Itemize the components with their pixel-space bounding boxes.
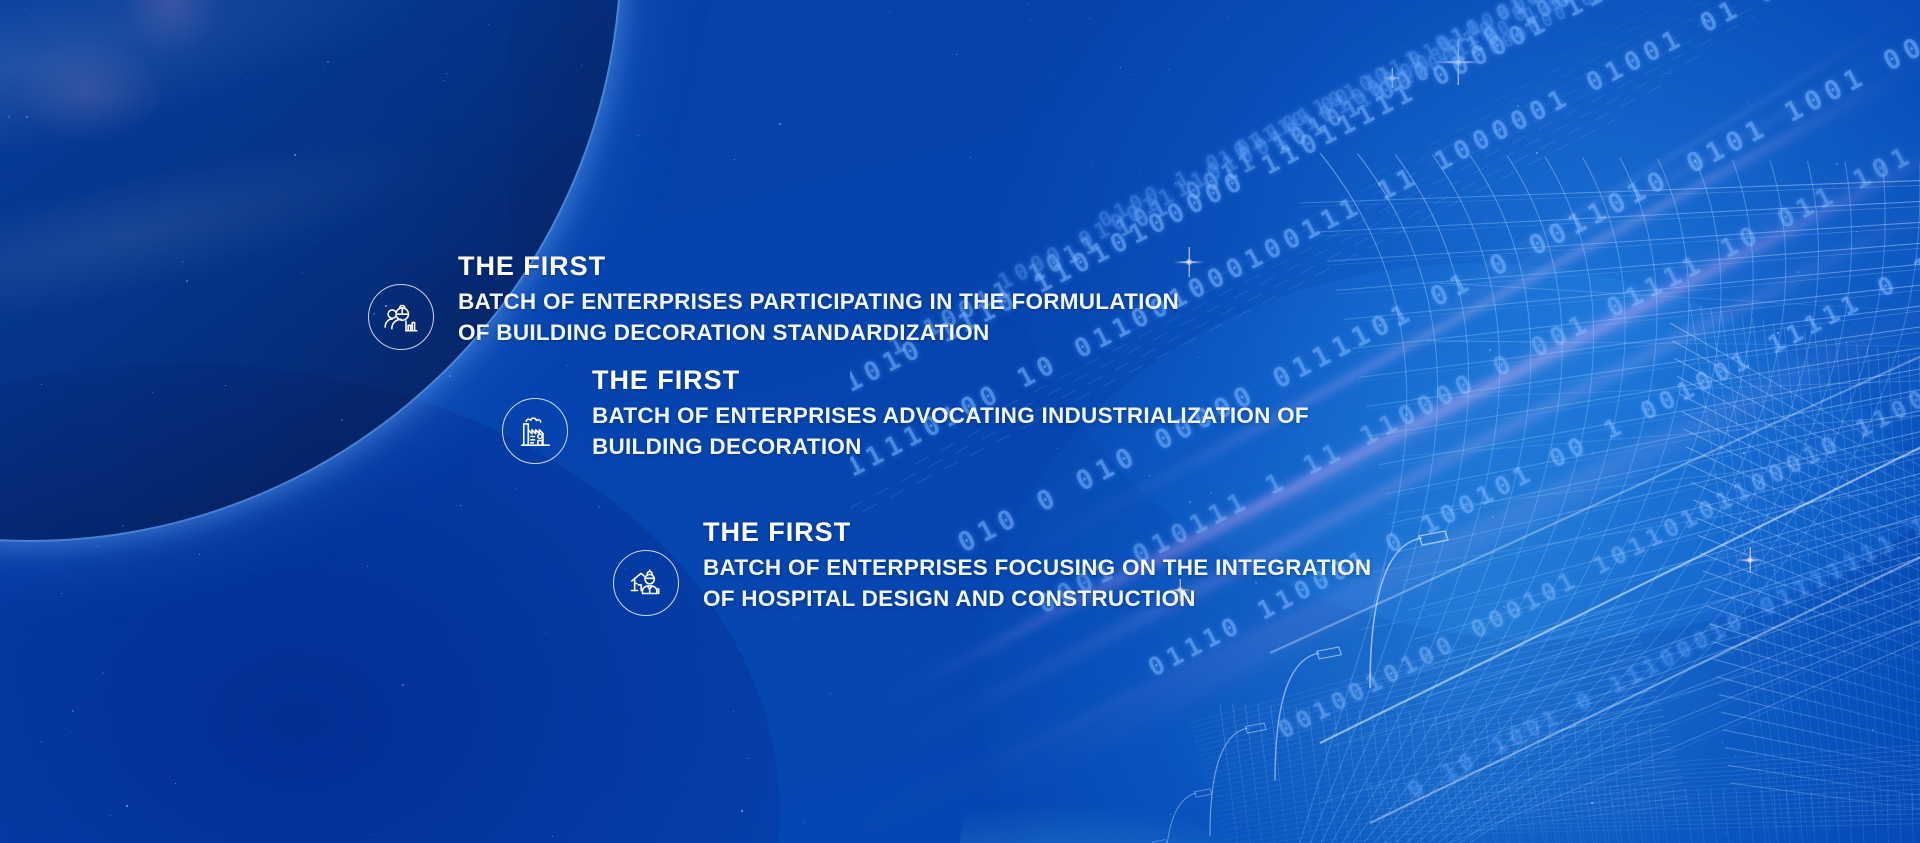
feature-item-1: THE FIRST BATCH OF ENTERPRISES PARTICIPA… xyxy=(368,252,1179,350)
worker-house-icon xyxy=(613,550,679,616)
engineer-chart-icon xyxy=(368,284,434,350)
feature-text-2: THE FIRST BATCH OF ENTERPRISES ADVOCATIN… xyxy=(592,366,1309,463)
feature-line-2-1: BATCH OF ENTERPRISES ADVOCATING INDUSTRI… xyxy=(592,401,1309,432)
feature-line-1-1: BATCH OF ENTERPRISES PARTICIPATING IN TH… xyxy=(458,287,1179,318)
feature-body-2: BATCH OF ENTERPRISES ADVOCATING INDUSTRI… xyxy=(592,401,1309,462)
hero-banner: 0 01010 1110 11010100000 11011111 000001… xyxy=(0,0,1920,843)
feature-line-3-1: BATCH OF ENTERPRISES FOCUSING ON THE INT… xyxy=(703,553,1371,584)
feature-item-3: THE FIRST BATCH OF ENTERPRISES FOCUSING … xyxy=(613,518,1371,616)
feature-line-1-2: OF BUILDING DECORATION STANDARDIZATION xyxy=(458,318,1179,349)
feature-body-1: BATCH OF ENTERPRISES PARTICIPATING IN TH… xyxy=(458,287,1179,348)
feature-body-3: BATCH OF ENTERPRISES FOCUSING ON THE INT… xyxy=(703,553,1371,614)
feature-line-3-2: OF HOSPITAL DESIGN AND CONSTRUCTION xyxy=(703,584,1371,615)
factory-icon xyxy=(502,398,568,464)
feature-list: THE FIRST BATCH OF ENTERPRISES PARTICIPA… xyxy=(0,0,1920,843)
feature-item-2: THE FIRST BATCH OF ENTERPRISES ADVOCATIN… xyxy=(502,366,1309,464)
feature-heading-1: THE FIRST xyxy=(458,252,1179,280)
feature-text-1: THE FIRST BATCH OF ENTERPRISES PARTICIPA… xyxy=(458,252,1179,349)
feature-heading-3: THE FIRST xyxy=(703,518,1371,546)
feature-line-2-2: BUILDING DECORATION xyxy=(592,432,1309,463)
feature-heading-2: THE FIRST xyxy=(592,366,1309,394)
feature-text-3: THE FIRST BATCH OF ENTERPRISES FOCUSING … xyxy=(703,518,1371,615)
